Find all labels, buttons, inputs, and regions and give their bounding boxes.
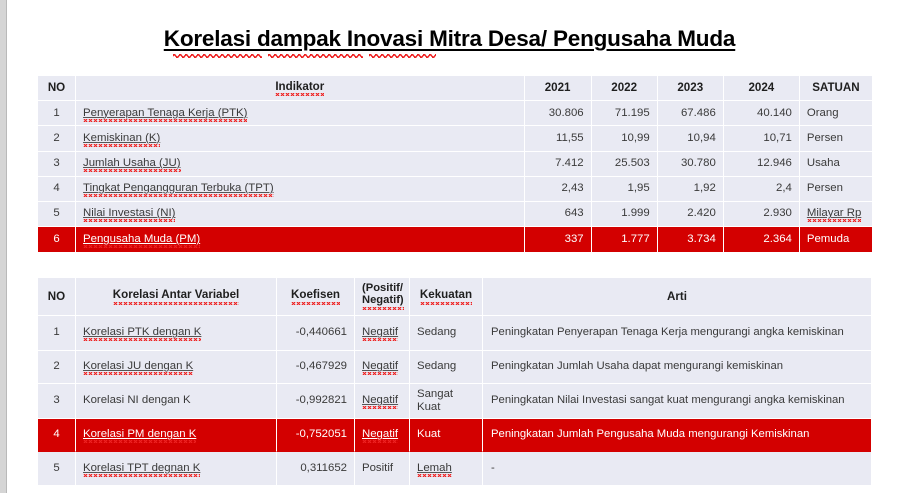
cell-2024: 40.140 [724,101,800,126]
cell-2023: 2.420 [658,202,724,227]
cell-arti: Peningkatan Jumlah Pengusaha Muda mengur… [483,419,871,452]
cell-2023: 30.780 [658,152,724,177]
cell-no: 2 [38,126,76,151]
cell-arti: Peningkatan Jumlah Usaha dapat mengurang… [483,351,871,384]
cell-2023: 10,94 [658,126,724,151]
cell-koefisien: -0,467929 [277,351,355,384]
cell-indikator: Jumlah Usaha (JU) [76,152,525,177]
cell-tanda: Negatif [355,384,410,419]
korelasi-table: NO Korelasi Antar Variabel Koefisen (Pos… [38,278,871,485]
cell-no: 1 [38,316,76,351]
col-header-koefisien: Koefisen [277,278,355,316]
col-header-no: NO [38,76,76,101]
cell-arti: Peningkatan Nilai Investasi sangat kuat … [483,384,871,419]
cell-no: 3 [38,152,76,177]
cell-variabel: Korelasi JU dengan K [76,351,277,384]
cell-2022: 1,95 [592,177,658,202]
cell-tanda: Positif [355,452,410,485]
cell-2021: 2,43 [525,177,592,202]
cell-indikator: Penyerapan Tenaga Kerja (PTK) [76,101,525,126]
cell-2024: 2.364 [724,227,800,252]
table-row: 5 Nilai Investasi (NI) 643 1.999 2.420 2… [38,202,872,227]
table-row: 1 Penyerapan Tenaga Kerja (PTK) 30.806 7… [38,101,872,126]
page-title-text: Korelasi dampak Inovasi Mitra Desa/ Peng… [164,26,735,51]
table-row: 5 Korelasi TPT degnan K 0,311652 Positif… [38,452,871,485]
cell-no: 5 [38,202,76,227]
cell-satuan: Orang [800,101,872,126]
col-header-2022: 2022 [592,76,658,101]
cell-2021: 30.806 [525,101,592,126]
cell-2024: 2,4 [724,177,800,202]
korelasi-table-body: 1 Korelasi PTK dengan K -0,440661 Negati… [38,316,871,485]
indikator-table-body: 1 Penyerapan Tenaga Kerja (PTK) 30.806 7… [38,101,872,252]
cell-koefisien: -0,440661 [277,316,355,351]
cell-2021: 7.412 [525,152,592,177]
col-header-indikator: Indikator [76,76,525,101]
table-row: 2 Korelasi JU dengan K -0,467929 Negatif… [38,351,871,384]
cell-2022: 10,99 [592,126,658,151]
cell-koefisien: -0,752051 [277,419,355,452]
table-row: 3 Korelasi NI dengan K -0,992821 Negatif… [38,384,871,419]
cell-no: 4 [38,419,76,452]
cell-indikator: Tingkat Pengangguran Terbuka (TPT) [76,177,525,202]
cell-indikator: Nilai Investasi (NI) [76,202,525,227]
cell-variabel: Korelasi PM dengan K [76,419,277,452]
table-header-row: NO Korelasi Antar Variabel Koefisen (Pos… [38,278,871,316]
cell-tanda: Negatif [355,419,410,452]
cell-no: 5 [38,452,76,485]
cell-tanda: Negatif [355,316,410,351]
col-header-2021: 2021 [525,76,592,101]
cell-no: 6 [38,227,76,252]
cell-kekuatan: Sedang [410,351,483,384]
table-header-row: NO Indikator 2021 2022 2023 2024 SATUAN [38,76,872,101]
cell-tanda: Negatif [355,351,410,384]
cell-satuan: Persen [800,126,872,151]
spellcheck-squiggle-3 [369,54,436,59]
cell-koefisien: -0,992821 [277,384,355,419]
table-row-highlighted: 4 Korelasi PM dengan K -0,752051 Negatif… [38,419,871,452]
cell-arti: Peningkatan Penyerapan Tenaga Kerja meng… [483,316,871,351]
cell-indikator: Kemiskinan (K) [76,126,525,151]
cell-2022: 71.195 [592,101,658,126]
cell-variabel: Korelasi TPT degnan K [76,452,277,485]
indikator-table: NO Indikator 2021 2022 2023 2024 SATUAN … [38,76,872,252]
cell-variabel: Korelasi NI dengan K [76,384,277,419]
cell-satuan: Milayar Rp [800,202,872,227]
cell-2021: 337 [525,227,592,252]
cell-2023: 67.486 [658,101,724,126]
cell-arti: - [483,452,871,485]
indikator-table-header: NO Indikator 2021 2022 2023 2024 SATUAN [38,76,872,101]
cell-2023: 1,92 [658,177,724,202]
cell-no: 1 [38,101,76,126]
cell-2023: 3.734 [658,227,724,252]
table-row-highlighted: 6 Pengusaha Muda (PM) 337 1.777 3.734 2.… [38,227,872,252]
cell-no: 2 [38,351,76,384]
table-row: 2 Kemiskinan (K) 11,55 10,99 10,94 10,71… [38,126,872,151]
cell-no: 4 [38,177,76,202]
col-header-satuan: SATUAN [800,76,872,101]
col-header-kekuatan: Kekuatan [410,278,483,316]
table-row: 4 Tingkat Pengangguran Terbuka (TPT) 2,4… [38,177,872,202]
cell-koefisien: 0,311652 [277,452,355,485]
col-header-tanda-line2: Negatif) [362,295,404,310]
cell-2021: 11,55 [525,126,592,151]
spellcheck-squiggle-2 [268,54,363,59]
page-title: Korelasi dampak Inovasi Mitra Desa/ Peng… [0,26,899,52]
cell-2022: 1.777 [592,227,658,252]
table-row: 3 Jumlah Usaha (JU) 7.412 25.503 30.780 … [38,152,872,177]
col-header-2023: 2023 [658,76,724,101]
cell-2021: 643 [525,202,592,227]
cell-2024: 2.930 [724,202,800,227]
cell-2022: 1.999 [592,202,658,227]
cell-satuan: Usaha [800,152,872,177]
cell-kekuatan: Lemah [410,452,483,485]
cell-satuan: Persen [800,177,872,202]
slide-canvas: Korelasi dampak Inovasi Mitra Desa/ Peng… [0,0,899,493]
cell-variabel: Korelasi PTK dengan K [76,316,277,351]
cell-2024: 12.946 [724,152,800,177]
cell-satuan: Pemuda [800,227,872,252]
cell-indikator: Pengusaha Muda (PM) [76,227,525,252]
col-header-2024: 2024 [724,76,800,101]
cell-kekuatan: Sedang [410,316,483,351]
korelasi-table-header: NO Korelasi Antar Variabel Koefisen (Pos… [38,278,871,316]
table-row: 1 Korelasi PTK dengan K -0,440661 Negati… [38,316,871,351]
slide-left-edge [0,0,7,493]
cell-kekuatan: Sangat Kuat [410,384,483,419]
spellcheck-squiggle-1 [173,54,262,59]
cell-2022: 25.503 [592,152,658,177]
col-header-variabel: Korelasi Antar Variabel [76,278,277,316]
col-header-no: NO [38,278,76,316]
cell-kekuatan: Kuat [410,419,483,452]
cell-2024: 10,71 [724,126,800,151]
col-header-tanda-line1: (Positif/ [362,282,403,294]
cell-no: 3 [38,384,76,419]
col-header-arti: Arti [483,278,871,316]
col-header-tanda: (Positif/ Negatif) [355,278,410,316]
